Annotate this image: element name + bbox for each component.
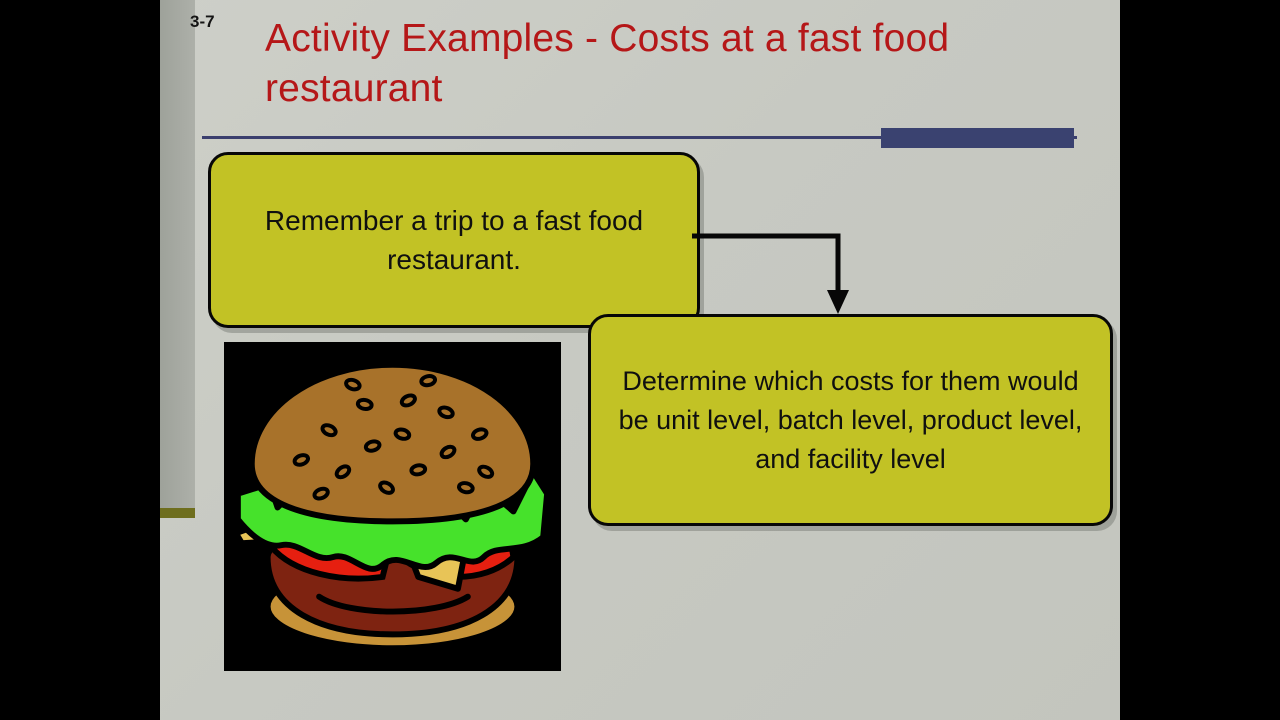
hamburger-icon <box>224 342 561 671</box>
letterbox-left <box>0 0 160 720</box>
callout-box-remember-trip-text: Remember a trip to a fast food restauran… <box>211 201 697 279</box>
slide-number: 3-7 <box>190 12 215 32</box>
screen: 3-7 Activity Examples - Costs at a fast … <box>0 0 1280 720</box>
title-accent-block <box>881 128 1074 148</box>
page-title: Activity Examples - Costs at a fast food… <box>265 14 1080 114</box>
elbow-arrow-icon <box>690 228 870 318</box>
left-decorative-band <box>160 0 195 508</box>
callout-box-remember-trip: Remember a trip to a fast food restauran… <box>208 152 700 328</box>
letterbox-right <box>1120 0 1280 720</box>
left-band-foot-accent <box>160 508 195 518</box>
hamburger-clipart-frame <box>224 342 561 671</box>
callout-box-determine-costs-text: Determine which costs for them would be … <box>591 362 1110 479</box>
callout-box-determine-costs: Determine which costs for them would be … <box>588 314 1113 526</box>
slide-canvas: 3-7 Activity Examples - Costs at a fast … <box>160 0 1120 720</box>
